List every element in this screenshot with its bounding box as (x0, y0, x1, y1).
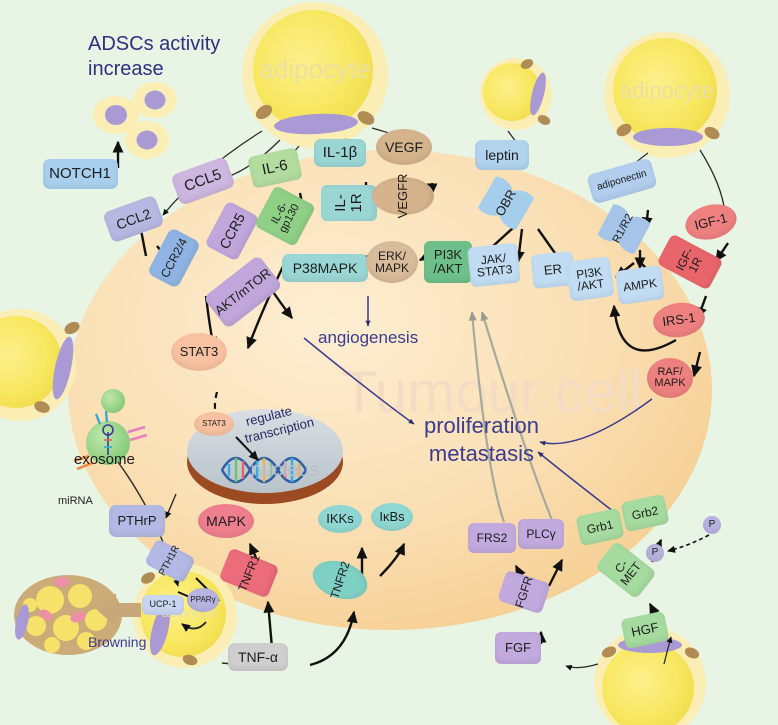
nucleus-watermark: nucleus (251, 459, 320, 481)
adipocyte-top-right-small (480, 57, 552, 130)
node-fgf[interactable]: FGF (495, 632, 541, 664)
adscs-activity-label: ADSCs activity increase (88, 32, 220, 82)
proliferation-metastasis-label: proliferation metastasis (424, 412, 539, 468)
node-plcy[interactable]: PLCγ (518, 519, 564, 549)
node-il1b[interactable]: IL-1β (314, 139, 366, 167)
adsc-cells (93, 82, 177, 159)
node-ppary[interactable]: PPARγ (187, 588, 219, 612)
node-tnfa[interactable]: TNF-α (228, 643, 288, 671)
node-erkmapk[interactable]: ERK/ MAPK (366, 241, 418, 283)
node-frs2[interactable]: FRS2 (468, 523, 516, 553)
arrow-p-to-cmet (668, 535, 709, 551)
node-ucp1[interactable]: UCP-1 (142, 595, 184, 615)
exosome-label: exosome (74, 451, 135, 468)
angiogenesis-label: angiogenesis (318, 328, 418, 348)
node-leptin[interactable]: leptin (475, 140, 529, 170)
node-p-small-2[interactable]: P (703, 516, 721, 534)
mirna-label: miRNA (58, 495, 93, 507)
node-notch1[interactable]: NOTCH1 (43, 159, 118, 189)
adipocyte-label-top-right: adipocyte (620, 78, 714, 103)
node-ikbs[interactable]: IκBs (371, 503, 413, 531)
node-ampk[interactable]: AMPK (615, 265, 665, 305)
node-p-small-1[interactable]: P (646, 544, 664, 562)
node-ikks[interactable]: IKKs (318, 505, 362, 533)
node-vegfr[interactable]: VEGFR (372, 177, 434, 215)
node-mapk[interactable]: MAPK (198, 504, 254, 538)
node-pi3kakt_v[interactable]: PI3K /AKT (424, 241, 472, 283)
node-stat3n[interactable]: STAT3 (194, 412, 234, 436)
browning-label: Browning (88, 634, 146, 650)
adipocyte-label-top-center: adipocyte (259, 54, 370, 84)
node-p38mapk[interactable]: P38MAPK (282, 254, 368, 282)
node-jakstat3[interactable]: JAK/ STAT3 (467, 242, 521, 287)
node-pthrp[interactable]: PTHrP (109, 505, 165, 537)
node-pi3kakt_b[interactable]: PI3K /AKT (565, 256, 614, 302)
node-rafmapk[interactable]: RAF/ MAPK (647, 358, 693, 398)
node-stat3[interactable]: STAT3 (171, 333, 227, 371)
node-vegf[interactable]: VEGF (376, 129, 432, 165)
node-il1r[interactable]: IL-1R (321, 185, 377, 221)
